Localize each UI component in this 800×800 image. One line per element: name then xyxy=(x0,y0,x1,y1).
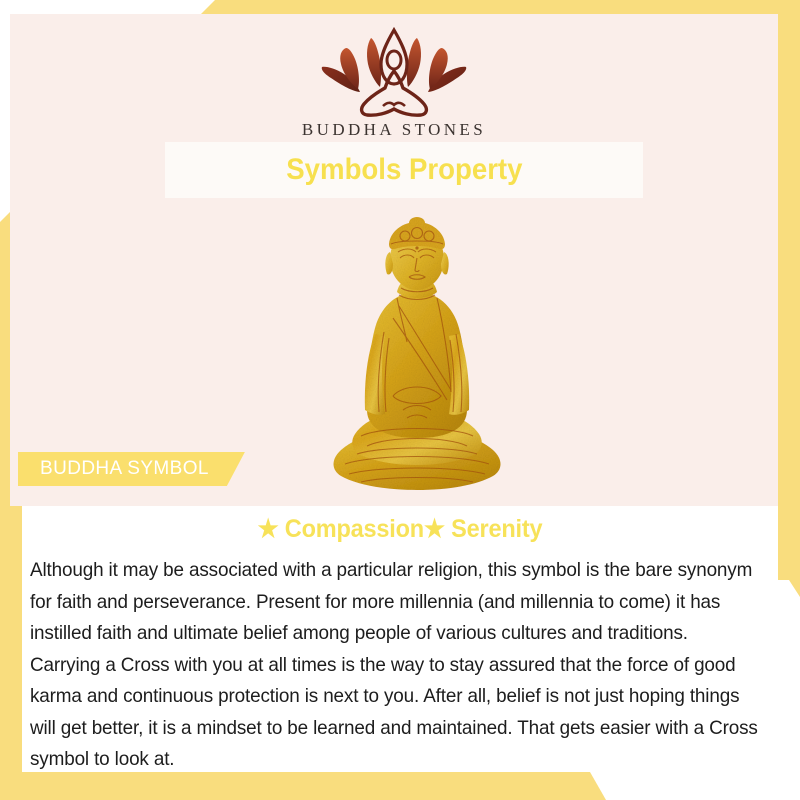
lotus-meditation-icon xyxy=(319,26,469,118)
buddha-statue-image xyxy=(327,214,507,504)
promo-banner-page: BUDDHA STONES Symbols Property xyxy=(0,0,800,800)
page-title: Symbols Property xyxy=(286,153,522,187)
decoration-right-strip xyxy=(778,0,800,597)
seated-golden-buddha-statue-icon xyxy=(327,214,507,504)
category-badge-label: BUDDHA SYMBOL xyxy=(40,458,209,480)
attribute-compassion: Compassion xyxy=(285,515,424,543)
hero-panel: BUDDHA STONES Symbols Property xyxy=(10,14,778,506)
description-paragraph: Although it may be associated with a par… xyxy=(30,555,759,776)
star-icon-left: ★ xyxy=(258,515,279,543)
category-badge: BUDDHA SYMBOL xyxy=(18,452,245,486)
attributes-heading: ★ Compassion★ Serenity xyxy=(45,514,756,544)
brand-name: BUDDHA STONES xyxy=(10,120,778,140)
brand-logo-block: BUDDHA STONES xyxy=(10,26,778,140)
content-panel: ★ Compassion★ Serenity Although it may b… xyxy=(22,506,778,772)
attribute-serenity: Serenity xyxy=(451,515,542,543)
title-panel: Symbols Property xyxy=(165,142,643,198)
star-icon-right: ★ xyxy=(424,515,445,543)
decoration-bottom-band xyxy=(0,772,800,800)
